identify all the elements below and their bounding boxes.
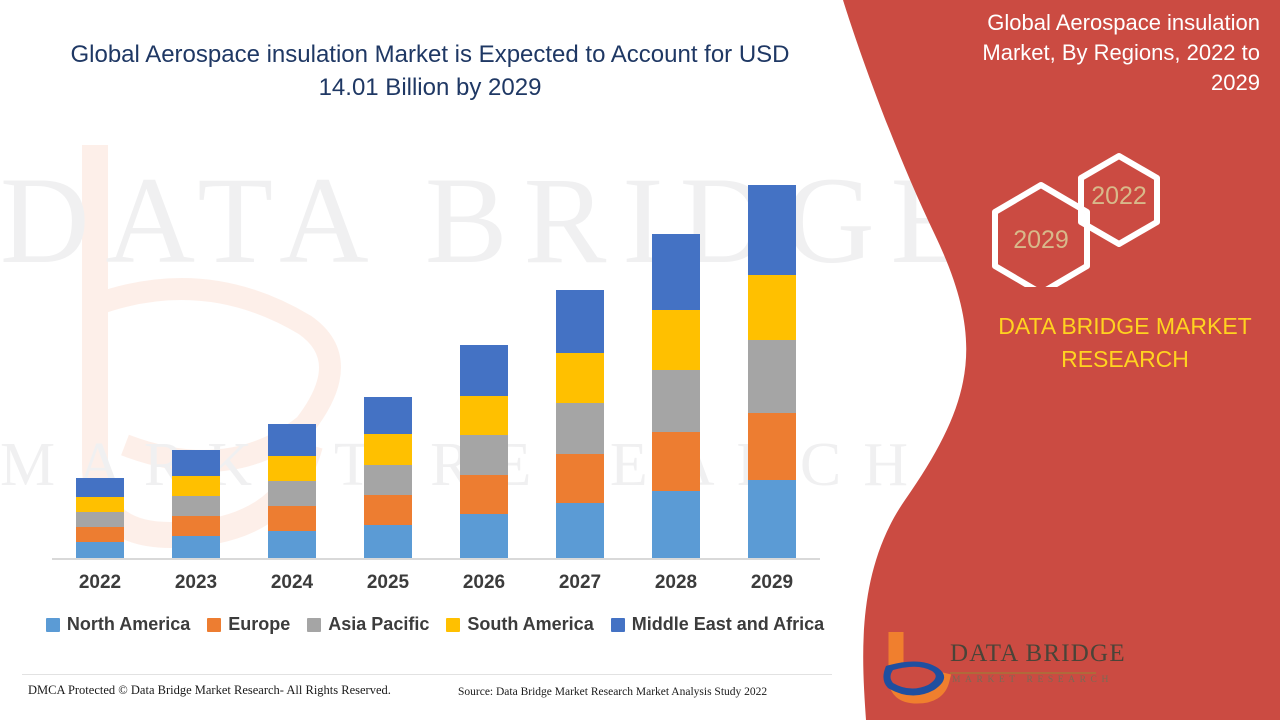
bar-segment xyxy=(268,481,316,506)
hexagon-outlines-icon xyxy=(985,142,1185,287)
bar-segment xyxy=(556,290,604,353)
legend-swatch-icon xyxy=(446,618,460,632)
bar-segment xyxy=(76,478,124,497)
legend-label: North America xyxy=(67,614,190,635)
stacked-bar xyxy=(76,478,124,558)
bar-segment xyxy=(268,424,316,456)
legend-item[interactable]: Europe xyxy=(207,614,290,635)
bar-segment xyxy=(748,480,796,558)
stacked-bar xyxy=(748,185,796,558)
bar-column xyxy=(340,140,436,558)
hexagon-end-year: 2029 xyxy=(1002,226,1080,255)
bar-segment xyxy=(556,454,604,503)
stacked-bar xyxy=(556,290,604,558)
bar-column xyxy=(148,140,244,558)
chart-x-axis: 20222023202420252026202720282029 xyxy=(52,572,820,594)
bar-segment xyxy=(460,435,508,475)
dmca-notice: DMCA Protected © Data Bridge Market Rese… xyxy=(28,683,391,698)
bar-segment xyxy=(172,450,220,476)
bar-segment xyxy=(268,506,316,531)
legend-swatch-icon xyxy=(207,618,221,632)
data-bridge-logo: DATA BRIDGE MARKET RESEARCH xyxy=(872,632,1102,704)
legend-swatch-icon xyxy=(46,618,60,632)
bar-segment xyxy=(652,491,700,558)
chart-legend: North AmericaEuropeAsia PacificSouth Ame… xyxy=(40,614,830,635)
stacked-bar-chart xyxy=(52,140,820,560)
stacked-bar xyxy=(652,234,700,558)
legend-label: Europe xyxy=(228,614,290,635)
brand-name: DATA BRIDGE MARKET RESEARCH xyxy=(975,310,1275,375)
x-axis-tick-2027: 2027 xyxy=(532,572,628,594)
stacked-bar xyxy=(460,345,508,558)
bar-segment xyxy=(76,512,124,527)
bar-segment xyxy=(460,396,508,435)
chart-bars xyxy=(52,140,820,558)
x-axis-tick-2025: 2025 xyxy=(340,572,436,594)
brand-name-line-2: RESEARCH xyxy=(1061,346,1189,372)
legend-item[interactable]: Asia Pacific xyxy=(307,614,429,635)
bar-segment xyxy=(364,397,412,434)
source-note: Source: Data Bridge Market Research Mark… xyxy=(458,686,767,698)
x-axis-tick-2026: 2026 xyxy=(436,572,532,594)
hexagon-start-year: 2022 xyxy=(1080,182,1158,211)
bar-column xyxy=(52,140,148,558)
bar-segment xyxy=(76,527,124,542)
bar-segment xyxy=(364,525,412,558)
stacked-bar xyxy=(268,424,316,558)
bar-segment xyxy=(652,234,700,310)
bar-segment xyxy=(268,456,316,481)
bar-segment xyxy=(172,476,220,496)
x-axis-tick-2028: 2028 xyxy=(628,572,724,594)
x-axis-tick-2029: 2029 xyxy=(724,572,820,594)
bar-segment xyxy=(172,496,220,516)
brand-name-line-1: DATA BRIDGE MARKET xyxy=(998,313,1251,339)
legend-label: South America xyxy=(467,614,593,635)
bar-segment xyxy=(748,275,796,340)
bar-segment xyxy=(364,434,412,465)
bar-segment xyxy=(172,536,220,558)
bar-column xyxy=(532,140,628,558)
logo-tagline: MARKET RESEARCH xyxy=(952,675,1113,685)
bar-column xyxy=(436,140,532,558)
x-axis-tick-2024: 2024 xyxy=(244,572,340,594)
bar-segment xyxy=(556,403,604,454)
legend-swatch-icon xyxy=(611,618,625,632)
bar-segment xyxy=(76,542,124,558)
bar-segment xyxy=(460,475,508,514)
legend-item[interactable]: North America xyxy=(46,614,190,635)
chart-baseline xyxy=(52,558,820,560)
bar-column xyxy=(244,140,340,558)
bar-segment xyxy=(748,185,796,275)
chart-title: Global Aerospace insulation Market is Ex… xyxy=(40,38,820,104)
bar-segment xyxy=(652,370,700,432)
x-axis-tick-2023: 2023 xyxy=(148,572,244,594)
bar-segment xyxy=(460,345,508,396)
bar-segment xyxy=(556,503,604,558)
bar-segment xyxy=(652,432,700,491)
bar-segment xyxy=(268,531,316,558)
stacked-bar xyxy=(172,450,220,558)
bar-column xyxy=(724,140,820,558)
bar-segment xyxy=(76,497,124,512)
bar-segment xyxy=(652,310,700,370)
panel-title: Global Aerospace insulation Market, By R… xyxy=(960,8,1260,98)
stacked-bar xyxy=(364,397,412,558)
legend-label: Middle East and Africa xyxy=(632,614,824,635)
year-hexagons: 2022 2029 xyxy=(985,142,1185,287)
footer-divider xyxy=(22,674,832,675)
bar-segment xyxy=(364,495,412,525)
bar-column xyxy=(628,140,724,558)
bar-segment xyxy=(748,340,796,413)
infographic-root: DATA BRIDGE MARKET RESEARCH Global Aeros… xyxy=(0,0,1280,720)
legend-item[interactable]: South America xyxy=(446,614,593,635)
bar-segment xyxy=(556,353,604,403)
logo-rule xyxy=(950,672,1096,674)
bar-segment xyxy=(172,516,220,536)
bar-segment xyxy=(748,413,796,480)
bar-segment xyxy=(364,465,412,495)
legend-item[interactable]: Middle East and Africa xyxy=(611,614,824,635)
legend-swatch-icon xyxy=(307,618,321,632)
x-axis-tick-2022: 2022 xyxy=(52,572,148,594)
logo-name: DATA BRIDGE xyxy=(950,640,1126,668)
legend-label: Asia Pacific xyxy=(328,614,429,635)
bar-segment xyxy=(460,514,508,558)
